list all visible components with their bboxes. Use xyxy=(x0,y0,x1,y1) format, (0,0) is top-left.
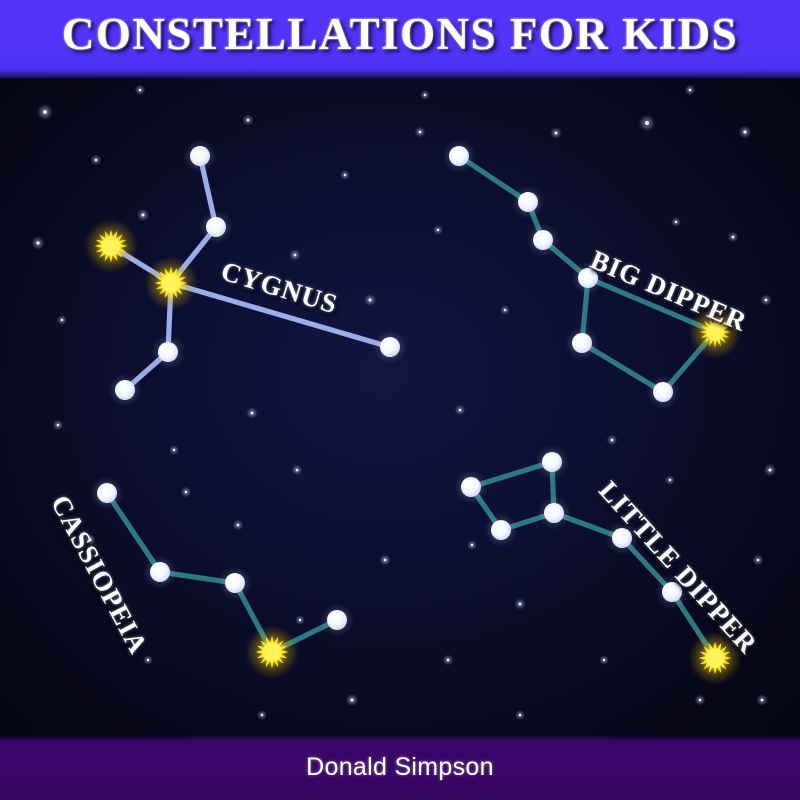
background-star xyxy=(237,524,240,527)
background-star xyxy=(519,714,521,716)
background-star xyxy=(669,479,671,481)
background-star xyxy=(743,130,746,133)
background-star xyxy=(424,94,426,96)
star-glow-layer xyxy=(84,139,742,685)
star-white-icon xyxy=(544,503,564,523)
star-yellow-core xyxy=(263,643,282,662)
star-white-icon xyxy=(327,610,347,630)
star-white-icon xyxy=(190,146,210,166)
star-white-icon xyxy=(115,380,135,400)
background-star xyxy=(732,236,735,239)
star-white-icon xyxy=(97,483,117,503)
star-white-icon xyxy=(653,382,673,402)
title-banner: CONSTELLATIONS FOR KIDS xyxy=(0,0,800,78)
constellation-lines xyxy=(107,156,715,658)
background-star xyxy=(603,659,605,661)
background-star xyxy=(519,603,522,606)
background-star xyxy=(43,110,47,114)
background-star xyxy=(369,299,372,302)
background-star xyxy=(459,409,462,412)
background-star xyxy=(471,544,473,546)
constellation-stars xyxy=(95,146,732,675)
star-white-icon xyxy=(150,562,170,582)
background-star xyxy=(761,699,764,702)
star-white-icon xyxy=(380,337,400,357)
star-white-icon xyxy=(542,452,562,472)
background-star xyxy=(555,132,558,135)
background-star xyxy=(95,159,98,162)
background-star xyxy=(351,699,354,702)
star-white-icon xyxy=(206,217,226,237)
background-star xyxy=(185,491,188,494)
background-star xyxy=(344,174,346,176)
star-white-icon xyxy=(449,146,469,166)
background-star xyxy=(36,241,39,244)
author-name: Donald Simpson xyxy=(0,753,800,782)
background-star xyxy=(57,424,60,427)
background-star xyxy=(247,119,250,122)
author-banner: Donald Simpson xyxy=(0,740,800,800)
star-yellow-core xyxy=(102,237,121,256)
background-star xyxy=(689,89,692,92)
background-star xyxy=(447,659,450,662)
background-star xyxy=(384,559,387,562)
star-white-icon xyxy=(533,230,553,250)
constellation-diagram xyxy=(0,0,800,800)
star-white-icon xyxy=(158,342,178,362)
background-star xyxy=(611,439,614,442)
background-star xyxy=(299,619,301,621)
star-yellow-core xyxy=(706,649,725,668)
background-star xyxy=(757,559,760,562)
background-star xyxy=(296,469,299,472)
background-star xyxy=(142,214,145,217)
star-white-icon xyxy=(572,333,592,353)
star-white-icon xyxy=(518,192,538,212)
background-star xyxy=(147,659,149,661)
background-star xyxy=(504,309,506,311)
background-star xyxy=(769,469,772,472)
book-cover: CYGNUS BIG DIPPER CASSIOPEIA LITTLE DIPP… xyxy=(0,0,800,800)
star-white-icon xyxy=(461,477,481,497)
background-star xyxy=(437,229,439,231)
star-yellow-core xyxy=(162,274,181,293)
background-star xyxy=(61,319,63,321)
star-white-icon xyxy=(225,573,245,593)
background-star xyxy=(294,254,297,257)
background-star xyxy=(139,89,142,92)
background-star xyxy=(173,449,175,451)
star-white-icon xyxy=(491,520,511,540)
background-star xyxy=(675,221,677,223)
background-star xyxy=(261,714,263,716)
background-star xyxy=(645,121,649,125)
background-star xyxy=(765,299,768,302)
background-star xyxy=(251,412,254,415)
background-star xyxy=(699,699,702,702)
book-title: CONSTELLATIONS FOR KIDS xyxy=(0,8,800,60)
background-star xyxy=(419,131,422,134)
